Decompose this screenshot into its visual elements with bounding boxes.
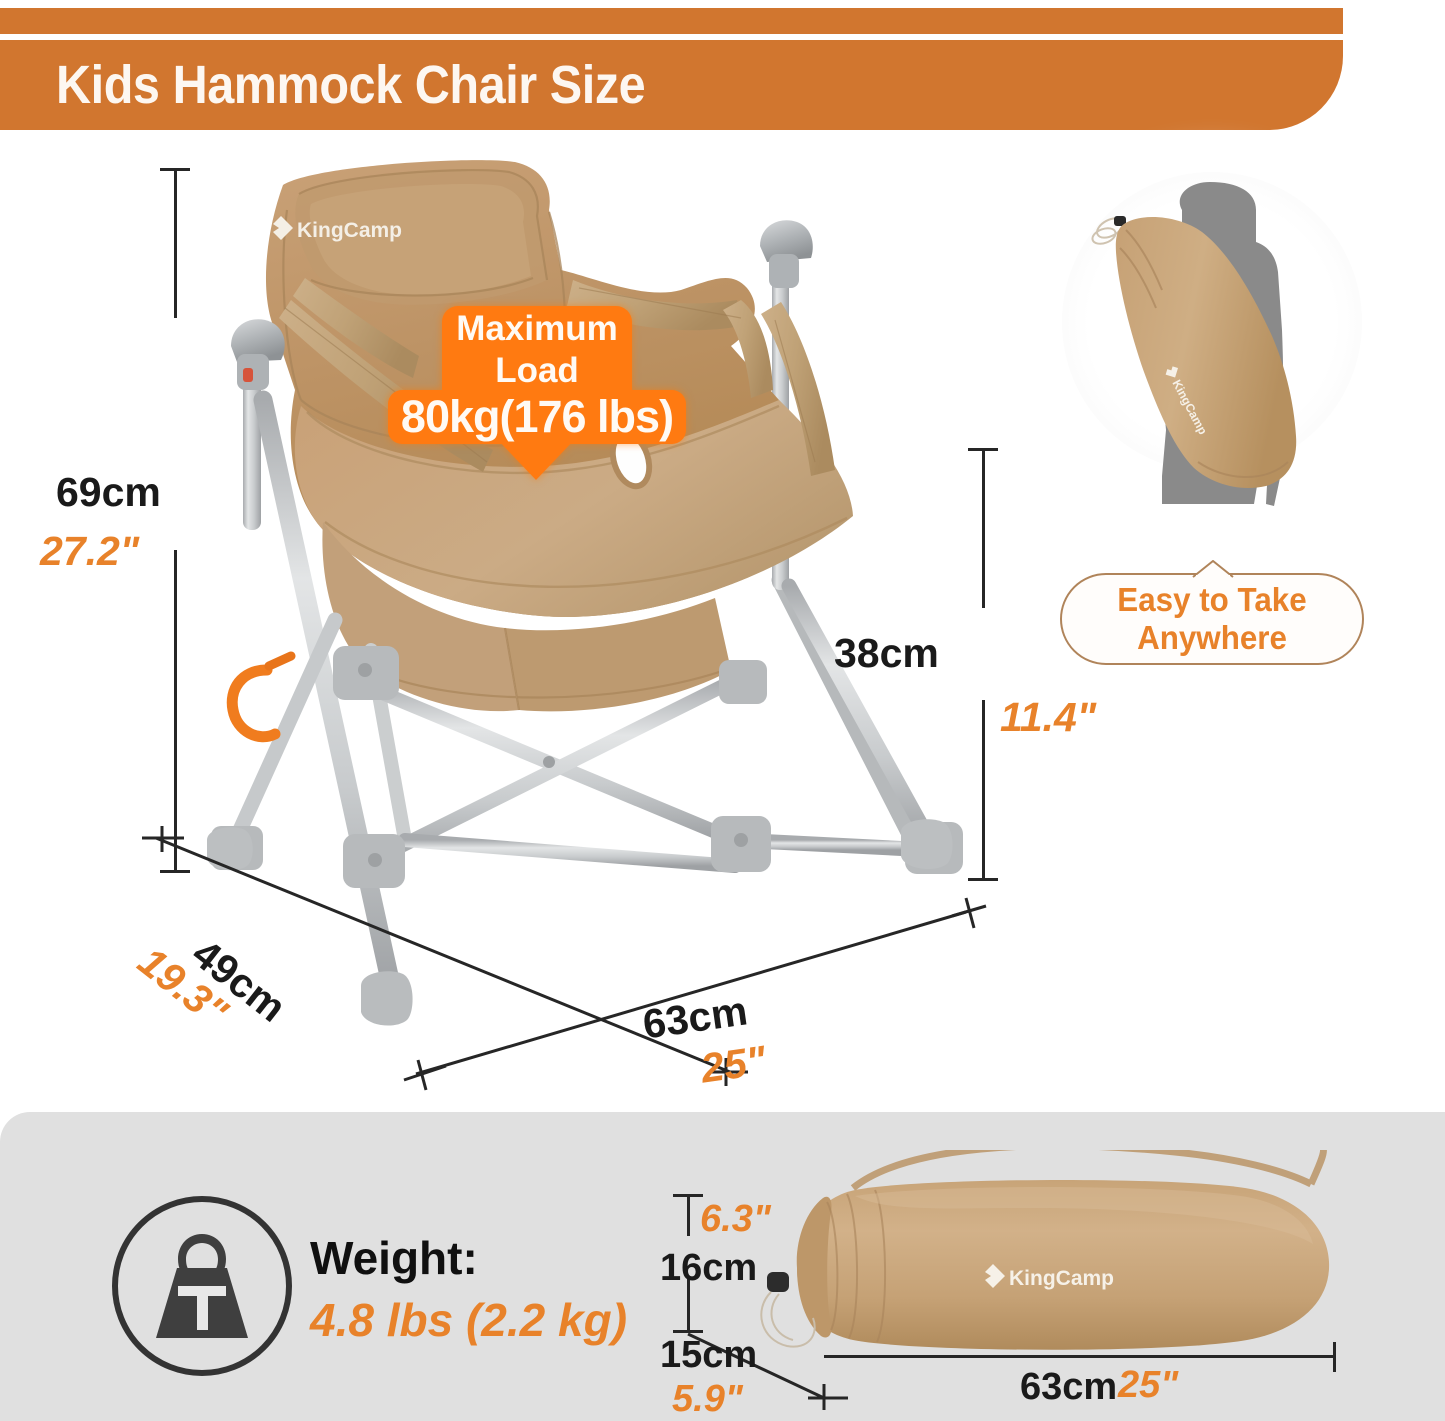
person-carrying-bag-illustration: KingCamp [1070,180,1360,600]
dimension-width-inch: 25" [698,1037,769,1093]
weight-label: Weight: [310,1231,478,1285]
svg-text:KingCamp: KingCamp [297,219,402,242]
portability-line1: Easy to Take [1117,581,1306,619]
page-title: Kids Hammock Chair Size [56,48,1046,122]
max-load-value: 80kg(176 lbs) [388,390,686,444]
max-load-badge: Maximum Load 80kg(176 lbs) [388,306,686,478]
portability-callout-text: Easy to Take Anywhere [1068,576,1357,662]
header-top-stripe [0,8,1343,34]
dimension-height-cm: 69cm [56,469,161,516]
packed-length-cm: 63cm [1020,1366,1117,1409]
dimension-seat-height-inch: 11.4" [1000,694,1096,741]
packed-length-inch: 25" [1118,1364,1178,1407]
weight-icon [150,1230,254,1342]
svg-text:KingCamp: KingCamp [1009,1267,1114,1290]
badge-pointer [496,438,576,480]
max-load-title: Maximum Load [388,308,686,392]
packed-height-cm: 16cm [660,1247,757,1290]
dimension-seat-height-cm: 38cm [834,630,939,677]
packed-height-inch: 6.3" [700,1198,771,1241]
dimension-height-inch: 27.2" [40,528,139,575]
packed-depth-cm: 15cm [660,1334,757,1377]
portability-line2: Anywhere [1137,619,1287,657]
max-load-line2: Load [388,350,686,392]
packed-depth-inch: 5.9" [672,1378,743,1421]
max-load-line1: Maximum [388,308,686,350]
weight-value: 4.8 lbs (2.2 kg) [310,1293,627,1347]
infographic-canvas: Kids Hammock Chair Size [0,0,1445,1421]
